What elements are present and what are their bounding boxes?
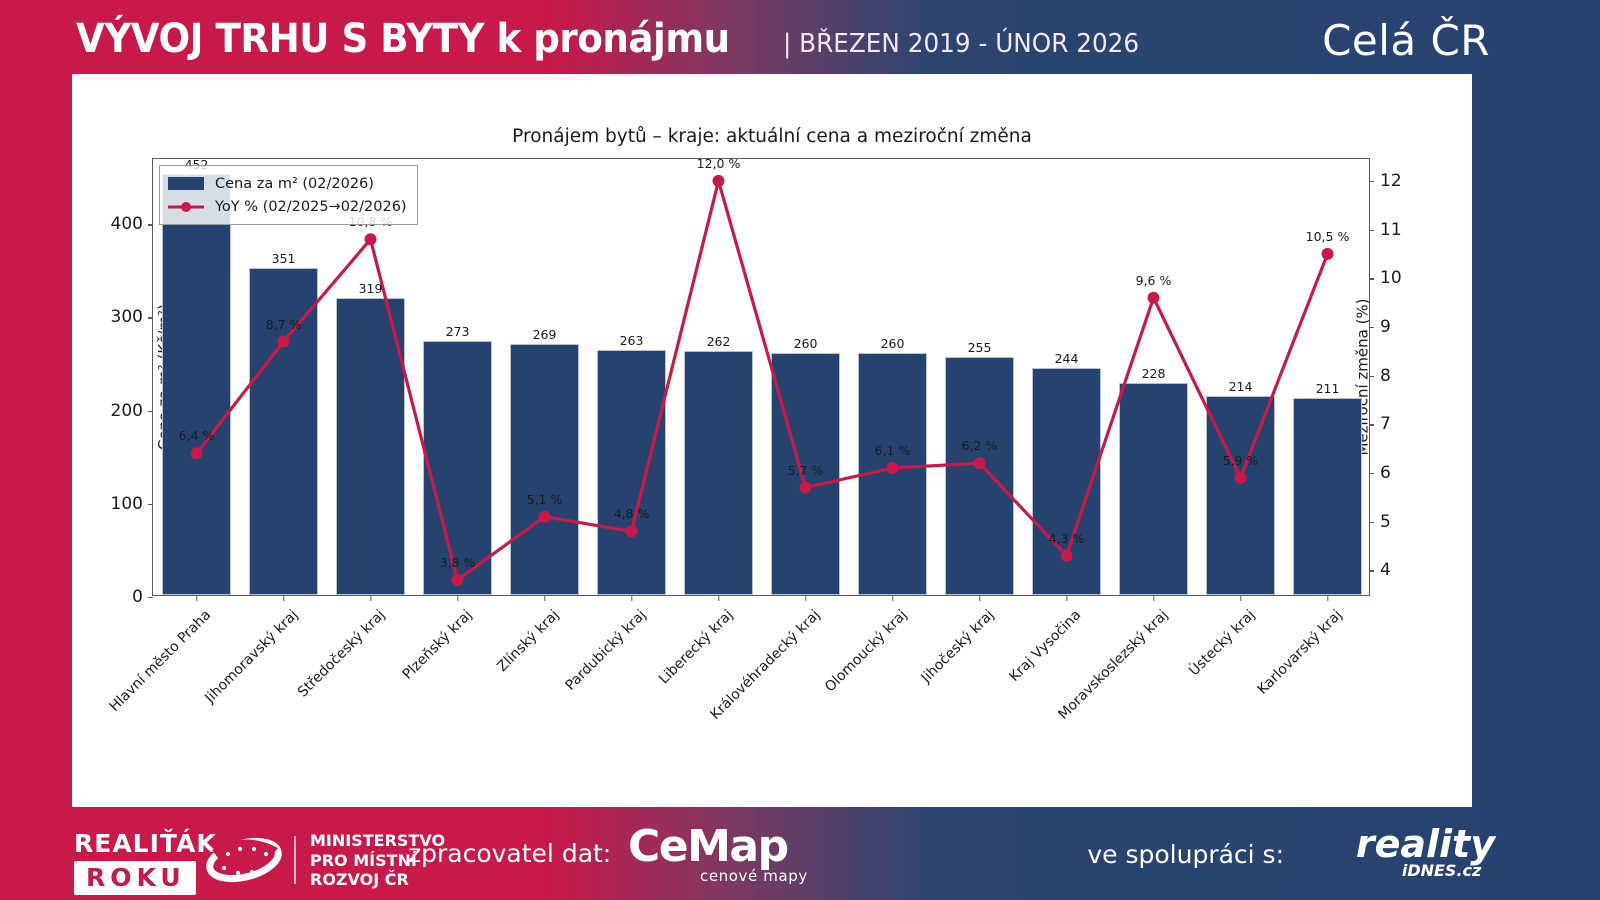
page-title: VÝVOJ TRHU S BYTY k pronájmu <box>76 16 730 62</box>
line-marker[interactable] <box>1061 550 1073 562</box>
y2-tick-label: 11 <box>1369 220 1402 240</box>
x-tick <box>457 595 458 601</box>
cemap-tagline: cenové mapy <box>700 867 808 885</box>
line-value-label: 5,9 % <box>1223 453 1259 468</box>
line-value-label: 6,1 % <box>875 443 911 458</box>
line-marker[interactable] <box>191 447 203 459</box>
y2-tick-label: 4 <box>1369 560 1391 580</box>
bar-value-label: 273 <box>446 324 470 339</box>
line-marker[interactable] <box>1322 248 1334 260</box>
processor-label: zpracovatel dat: <box>408 839 611 868</box>
legend-item-yoy: YoY % (02/2025→02/2026) <box>168 195 407 218</box>
bar-value-label: 260 <box>794 336 818 351</box>
y2-tick-label: 10 <box>1369 268 1402 288</box>
y2-tick-label: 9 <box>1369 317 1391 337</box>
chart-card: Pronájem bytů – kraje: aktuální cena a m… <box>72 74 1472 807</box>
x-tick <box>1066 595 1067 601</box>
x-axis-label: Jihočeský kraj <box>918 607 997 686</box>
y2-tick-label: 6 <box>1369 463 1391 483</box>
line-marker[interactable] <box>365 233 377 245</box>
x-axis-label: Hlavní město Praha <box>106 607 214 715</box>
x-axis-label: Pardubický kraj <box>562 607 649 694</box>
footer: REALIŤÁK ROKU MINISTERSTVO PRO MÍSTNÍ RO… <box>0 807 1600 900</box>
x-axis-label: Plzeňský kraj <box>399 607 475 683</box>
x-axis-label: Karlovarský kraj <box>1254 607 1345 698</box>
line-value-label: 8,7 % <box>266 317 302 332</box>
realitak-line2: ROKU <box>74 861 196 895</box>
bar-value-label: 255 <box>968 340 992 355</box>
line-marker[interactable] <box>974 457 986 469</box>
x-axis-label: Liberecký kraj <box>655 607 735 687</box>
line-marker[interactable] <box>278 336 290 348</box>
y-tick-label: 100 <box>111 494 153 514</box>
cooperation-label: ve spolupráci s: <box>1087 840 1284 869</box>
y-tick-label: 200 <box>111 401 153 421</box>
bar-value-label: 244 <box>1055 351 1079 366</box>
bar-value-label: 260 <box>881 336 905 351</box>
bar-value-label: 262 <box>707 334 731 349</box>
realitak-line1: REALIŤÁK <box>74 829 217 858</box>
x-tick <box>1153 595 1154 601</box>
reality-domain: iDNES.cz <box>1402 861 1495 880</box>
bar-value-label: 351 <box>272 251 296 266</box>
line-value-label: 4,3 % <box>1049 531 1085 546</box>
y-tick-label: 0 <box>132 587 153 607</box>
y2-tick-label: 12 <box>1369 171 1402 191</box>
x-tick <box>196 595 197 601</box>
y2-tick-label: 5 <box>1369 512 1391 532</box>
line-marker[interactable] <box>887 462 899 474</box>
x-tick <box>631 595 632 601</box>
y-tick-label: 400 <box>111 214 153 234</box>
line-value-label: 3,8 % <box>440 555 476 570</box>
line-value-label: 4,8 % <box>614 506 650 521</box>
legend-label-price: Cena za m² (02/2026) <box>215 176 374 192</box>
legend-line-marker-icon <box>168 200 204 213</box>
x-tick <box>1240 595 1241 601</box>
bar-value-label: 211 <box>1316 381 1340 396</box>
legend-label-yoy: YoY % (02/2025→02/2026) <box>215 199 407 215</box>
bar-value-label: 269 <box>533 327 557 342</box>
line-marker[interactable] <box>539 511 551 523</box>
bar-value-label: 228 <box>1142 366 1166 381</box>
cemap-logo: CeMap cenové mapy <box>628 825 808 885</box>
x-axis-label: Jihomoravský kraj <box>202 607 301 706</box>
x-tick <box>370 595 371 601</box>
bar-value-label: 319 <box>359 281 383 296</box>
line-value-label: 5,1 % <box>527 492 563 507</box>
x-tick <box>892 595 893 601</box>
title-block: VÝVOJ TRHU S BYTY k pronájmu | BŘEZEN 20… <box>76 16 1158 62</box>
page-subtitle: | BŘEZEN 2019 - ÚNOR 2026 <box>783 29 1139 59</box>
y-tick-label: 300 <box>111 307 153 327</box>
line-marker[interactable] <box>1235 472 1247 484</box>
chart-plot-area: Cena za m² (Kč/m²) Meziroční změna (%) 0… <box>152 158 1370 596</box>
ministry-divider <box>294 836 296 884</box>
line-marker[interactable] <box>452 574 464 586</box>
y2-tick-label: 7 <box>1369 414 1391 434</box>
x-axis-label: Zlínský kraj <box>494 607 562 675</box>
x-tick <box>718 595 719 601</box>
reality-idnes-logo: reality iDNES.cz <box>1356 825 1495 880</box>
poster: VÝVOJ TRHU S BYTY k pronájmu | BŘEZEN 20… <box>0 0 1600 900</box>
line-marker[interactable] <box>800 482 812 494</box>
x-axis-label: Ústecký kraj <box>1186 607 1258 679</box>
line-marker[interactable] <box>626 525 638 537</box>
realitak-roku-logo: REALIŤÁK ROKU <box>74 829 217 895</box>
line-value-label: 5,7 % <box>788 463 824 478</box>
cemap-name: CeMap <box>628 825 808 869</box>
x-tick <box>979 595 980 601</box>
x-axis-label: Kraj Vysočina <box>1006 607 1084 685</box>
line-value-label: 6,4 % <box>179 428 215 443</box>
x-axis-label: Olomoucký kraj <box>821 607 909 695</box>
x-tick <box>1327 595 1328 601</box>
line-marker[interactable] <box>1148 292 1160 304</box>
chart-title: Pronájem bytů – kraje: aktuální cena a m… <box>72 126 1472 147</box>
reality-name: reality <box>1356 825 1495 863</box>
bar-value-label: 263 <box>620 333 644 348</box>
region-label: Celá ČR <box>1322 16 1490 65</box>
x-tick <box>805 595 806 601</box>
legend-bar-swatch-icon <box>168 177 204 190</box>
line-value-label: 6,2 % <box>962 438 998 453</box>
x-tick <box>283 595 284 601</box>
line-marker[interactable] <box>713 175 725 187</box>
mmr-emblem-icon <box>206 834 282 886</box>
x-axis-label: Středočeský kraj <box>294 607 387 700</box>
legend-item-price: Cena za m² (02/2026) <box>168 172 407 195</box>
line-value-label: 9,6 % <box>1136 273 1172 288</box>
x-tick <box>544 595 545 601</box>
bar-value-label: 214 <box>1229 379 1253 394</box>
y2-tick-label: 8 <box>1369 366 1391 386</box>
line-value-label: 10,5 % <box>1306 229 1350 244</box>
ministry-line3: ROZVOJ ČR <box>310 870 445 890</box>
chart-legend: Cena za m² (02/2026) YoY % (02/2025→02/2… <box>159 165 418 225</box>
line-value-label: 12,0 % <box>697 156 741 171</box>
header: VÝVOJ TRHU S BYTY k pronájmu | BŘEZEN 20… <box>0 0 1600 78</box>
